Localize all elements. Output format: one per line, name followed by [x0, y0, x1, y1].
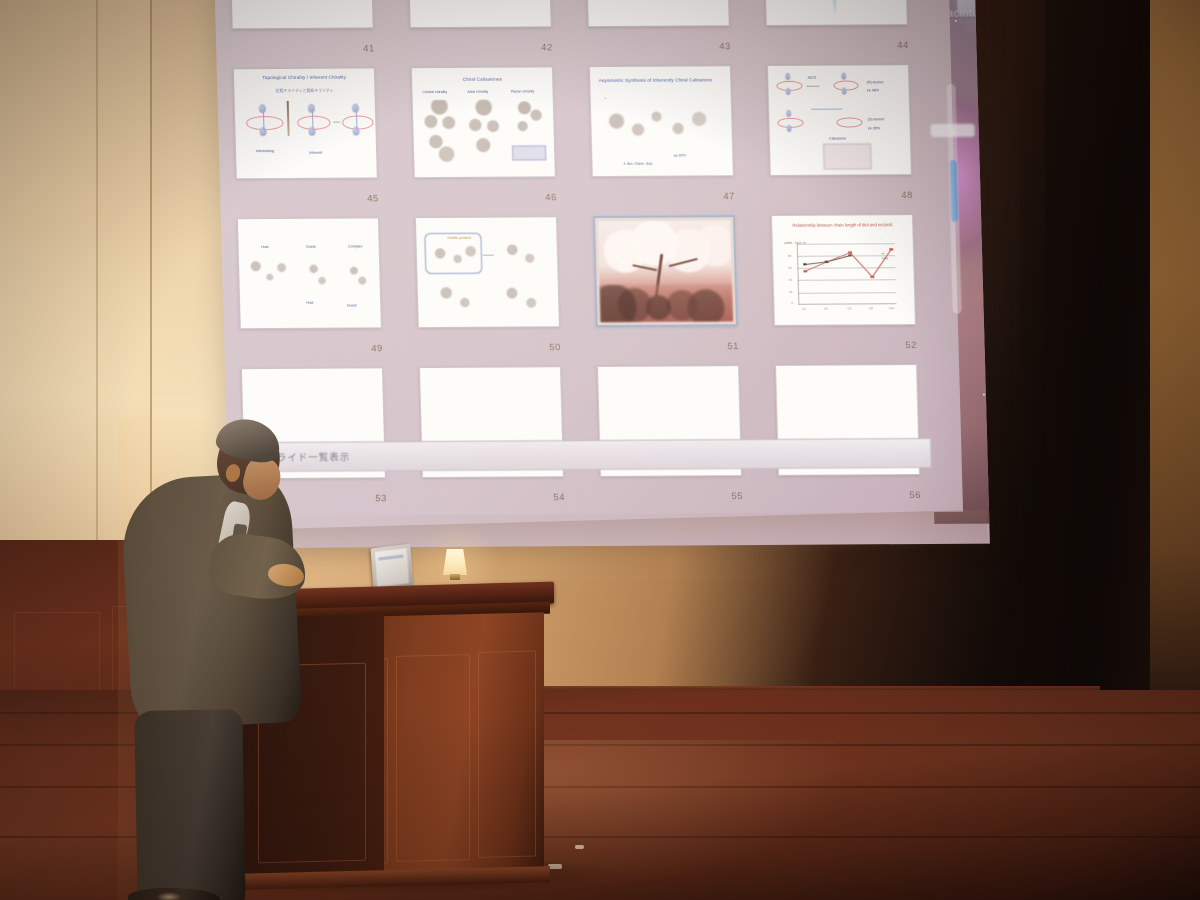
slide-label: Interlocking [256, 149, 275, 153]
slide-number: 43 [719, 41, 731, 52]
slide-label: Calixarene [829, 137, 846, 141]
slide-subtitle: 位相キラリティと固有キラリティ [243, 89, 367, 95]
presenter-jacket [120, 472, 303, 731]
slide-cell: Asymmetric Synthesis of Inherently Chira… [573, 57, 755, 208]
lectern-lamp-base [450, 574, 460, 580]
slide-cell: 56 [759, 356, 941, 507]
slide-label: Host [261, 245, 269, 249]
slide-cell: 42 [391, 0, 573, 59]
slide-title: Asymmetric Synthesis of Inherently Chira… [599, 78, 723, 86]
chart-xtick: C2 [802, 307, 806, 311]
slide-thumbnail[interactable]: Chiral Reagent Product [229, 0, 374, 29]
presentation-window: グラフィック ワードアート Chiral Reagent Product 41 [214, 0, 963, 516]
slide-thumbnail[interactable]: Relationship between chain length of dio… [771, 214, 916, 326]
chart-xtick: C10 [889, 307, 894, 311]
slide-number: 44 [897, 40, 909, 51]
slide-cell: Chiral Calixarenes Central chirality Axi… [395, 58, 577, 209]
slide-number: 54 [553, 492, 565, 503]
lectern-lamp[interactable] [443, 549, 467, 575]
slide-number: 45 [367, 193, 379, 204]
slide-title: Chiral Calixarenes [421, 77, 545, 85]
slide-thumbnail[interactable]: Chiral Calixarenes Central chirality Axi… [411, 66, 556, 178]
slide-cell: 55 [581, 357, 763, 508]
chart-legend-ee: ee [881, 252, 884, 256]
slide-thumbnail[interactable]: Topological Chirality / Inherent Chirali… [233, 67, 378, 179]
chart-slide-56: Relationship between chain length of dio… [772, 215, 915, 325]
slide-cell: Host Guest Complex Host Guest 49 [221, 209, 403, 360]
slide-label: Central chirality [422, 90, 447, 94]
chart-title: Relationship between chain length of dio… [783, 222, 901, 229]
wall-warm-strip-far-right [1150, 0, 1200, 700]
slide-grid: Chiral Reagent Product 41 42 [214, 0, 941, 510]
slide-cell: Chiral Reagent Product 41 [214, 0, 395, 60]
slide-number: 56 [909, 490, 921, 501]
projection-screen: Macintosh HD グラフィック ワードアート Chiral Reagen… [214, 0, 990, 548]
chart-legend-yield: Yield [881, 257, 887, 261]
chart-xtick: C4 [824, 307, 828, 311]
presenter [118, 418, 298, 900]
slide-number: 55 [731, 491, 743, 502]
slide-thumbnail[interactable]: AlCl3 (R)-isomer ee 98% (S)-isomer [767, 64, 912, 176]
slide-label: Planar chirality [511, 90, 535, 94]
slide-label: Complex [348, 244, 362, 248]
slide-thumbnail[interactable]: Upward Downward [763, 0, 908, 26]
slide-view-toolbar[interactable]: スライド一覧表示 [231, 438, 932, 472]
slide-thumbnail[interactable]: Chiral Obstacle and Resolution [585, 0, 730, 27]
slide-number: 50 [549, 342, 561, 353]
slide-cell: Upward Downward 44 [747, 0, 929, 57]
photo-crowd [600, 284, 733, 321]
slide-number: 49 [371, 343, 383, 354]
lecture-hall-scene: Macintosh HD グラフィック ワードアート Chiral Reagen… [0, 0, 1200, 900]
presenter-trousers [134, 709, 245, 900]
slide-cell: Kinetic product 50 [399, 208, 581, 359]
slide-number: 47 [723, 191, 735, 202]
slide-thumbnail[interactable]: Asymmetric Synthesis of Inherently Chira… [589, 65, 734, 177]
slide-number: 53 [375, 493, 387, 504]
slide-cell: Relationship between chain length of dio… [755, 206, 937, 357]
slide-thumbnail[interactable] [407, 0, 552, 28]
slide-thumbnail[interactable]: Kinetic product [415, 216, 560, 328]
slide-number: 41 [363, 43, 375, 54]
slide-label: Axial chirality [467, 90, 488, 94]
floor-glint [575, 845, 584, 849]
slide-label: Guest [306, 244, 316, 248]
slide-thumbnail[interactable]: Host Guest Complex Host Guest [237, 217, 382, 329]
slide-label: Chiral Obstacle and Resolution [669, 0, 719, 1]
chart-xtick: C6 [847, 307, 851, 311]
slide-cell: 51 [577, 207, 759, 358]
slide-cell: Topological Chirality / Inherent Chirali… [217, 59, 399, 210]
chart-xtick: C8 [869, 307, 873, 311]
slide-thumbnail[interactable] [593, 215, 738, 327]
slide-number: 52 [905, 340, 917, 351]
wall-panel-seam [96, 0, 98, 540]
slide-label: Inherent [309, 151, 322, 155]
slide-number: 42 [541, 42, 553, 53]
shoe-highlight [156, 892, 182, 900]
slide-cell: 54 [403, 358, 585, 509]
slide-cell: Chiral Obstacle and Resolution 43 [569, 0, 751, 58]
slide-title: Topological Chirality / Inherent Chirali… [242, 75, 366, 83]
slide-number: 48 [901, 190, 913, 201]
slide-cell: AlCl3 (R)-isomer ee 98% (S)-isomer [751, 56, 933, 207]
slide-number: 51 [727, 341, 739, 352]
slide-number: 46 [545, 192, 557, 203]
chart-plot-area: 100 80 60 40 20 0 C2 C4 C6 C8 [797, 243, 897, 305]
